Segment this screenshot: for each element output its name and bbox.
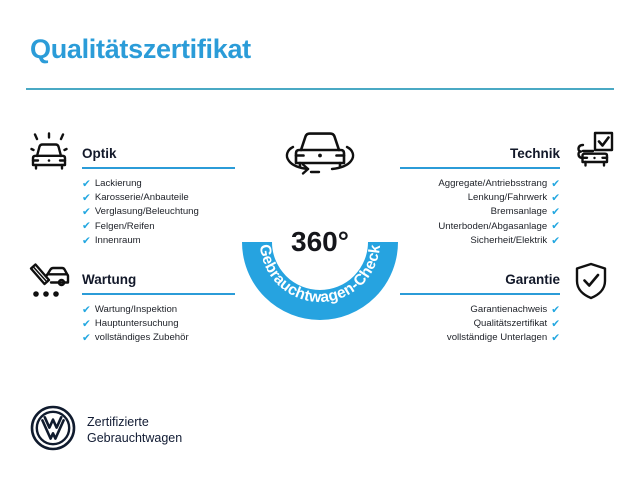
list-item: ✔Wartung/Inspektion	[82, 303, 235, 317]
list-item: ✔Lackierung	[82, 177, 235, 191]
list-item: vollständige Unterlagen✔	[447, 331, 560, 345]
section-garantie: Garantie Garantienachweis✔ Qualitätszert…	[400, 272, 560, 346]
section-heading-wartung: Wartung	[82, 272, 235, 288]
list-item: Garantienachweis✔	[470, 303, 560, 317]
list-item-label: Qualitätszertifikat	[474, 317, 548, 331]
list-item-label: Lackierung	[95, 177, 142, 191]
section-divider-optik	[82, 167, 235, 169]
vw-footer: Zertifizierte Gebrauchtwagen	[30, 405, 182, 456]
section-heading-technik: Technik	[400, 146, 560, 162]
list-item: Aggregate/Antriebsstrang✔	[438, 177, 560, 191]
check-icon: ✔	[551, 207, 560, 218]
list-item-label: vollständige Unterlagen	[447, 331, 547, 345]
list-item: Bremsanlage✔	[491, 205, 560, 219]
check-icon: ✔	[82, 305, 91, 316]
car-checkbox-icon	[571, 131, 615, 176]
section-divider-wartung	[82, 293, 235, 295]
360-check-badge: Gebrauchtwagen-Check 360°	[238, 160, 402, 324]
shield-check-icon	[574, 262, 608, 305]
section-technik: Technik Aggregate/Antriebsstrang✔ Lenkun…	[400, 146, 560, 248]
checklist-garantie: Garantienachweis✔ Qualitätszertifikat✔ v…	[400, 303, 560, 346]
list-item-label: Felgen/Reifen	[95, 220, 155, 234]
list-item: ✔Karosserie/Anbauteile	[82, 191, 235, 205]
section-wartung: Wartung ✔Wartung/Inspektion ✔Hauptunters…	[82, 272, 235, 346]
vw-logo	[30, 405, 76, 456]
section-heading-optik: Optik	[82, 146, 235, 162]
checklist-wartung: ✔Wartung/Inspektion ✔Hauptuntersuchung ✔…	[82, 303, 235, 346]
list-item: ✔Verglasung/Beleuchtung	[82, 205, 235, 219]
footer-label: Zertifizierte Gebrauchtwagen	[87, 415, 182, 446]
list-item: Unterboden/Abgasanlage✔	[438, 220, 560, 234]
list-item-label: Lenkung/Fahrwerk	[468, 191, 547, 205]
car-rotate-360-icon	[275, 126, 365, 182]
check-icon: ✔	[82, 221, 91, 232]
list-item-label: Wartung/Inspektion	[95, 303, 177, 317]
check-icon: ✔	[551, 319, 560, 330]
list-item: Lenkung/Fahrwerk✔	[468, 191, 560, 205]
checklist-optik: ✔Lackierung ✔Karosserie/Anbauteile ✔Verg…	[82, 177, 235, 248]
section-heading-garantie: Garantie	[400, 272, 560, 288]
car-front-shine-icon	[27, 132, 71, 177]
list-item-label: Karosserie/Anbauteile	[95, 191, 189, 205]
check-icon: ✔	[551, 221, 560, 232]
list-item-label: Verglasung/Beleuchtung	[95, 205, 199, 219]
check-icon: ✔	[82, 179, 91, 190]
list-item: ✔Felgen/Reifen	[82, 220, 235, 234]
check-icon: ✔	[82, 236, 91, 247]
list-item-label: Innenraum	[95, 234, 141, 248]
title-divider	[26, 88, 614, 90]
check-icon: ✔	[82, 333, 91, 344]
list-item-label: Aggregate/Antriebsstrang	[438, 177, 547, 191]
list-item-label: Bremsanlage	[491, 205, 548, 219]
list-item-label: Unterboden/Abgasanlage	[438, 220, 547, 234]
check-icon: ✔	[551, 236, 560, 247]
list-item: ✔vollständiges Zubehör	[82, 331, 235, 345]
check-icon: ✔	[551, 179, 560, 190]
section-divider-garantie	[400, 293, 560, 295]
check-icon: ✔	[82, 193, 91, 204]
list-item-label: Garantienachweis	[470, 303, 547, 317]
certificate-page: Qualitätszertifikat	[0, 0, 640, 480]
list-item: Qualitätszertifikat✔	[474, 317, 560, 331]
list-item: ✔Innenraum	[82, 234, 235, 248]
section-optik: Optik ✔Lackierung ✔Karosserie/Anbauteile…	[82, 146, 235, 248]
check-icon: ✔	[551, 305, 560, 316]
check-icon: ✔	[551, 193, 560, 204]
check-icon: ✔	[82, 319, 91, 330]
list-item-label: Sicherheit/Elektrik	[470, 234, 547, 248]
page-title: Qualitätszertifikat	[30, 34, 251, 65]
check-icon: ✔	[82, 207, 91, 218]
section-divider-technik	[400, 167, 560, 169]
list-item-label: vollständiges Zubehör	[95, 331, 189, 345]
checklist-technik: Aggregate/Antriebsstrang✔ Lenkung/Fahrwe…	[400, 177, 560, 248]
list-item-label: Hauptuntersuchung	[95, 317, 179, 331]
list-item: ✔Hauptuntersuchung	[82, 317, 235, 331]
car-wrench-icon	[27, 262, 71, 307]
check-icon: ✔	[551, 333, 560, 344]
list-item: Sicherheit/Elektrik✔	[470, 234, 560, 248]
